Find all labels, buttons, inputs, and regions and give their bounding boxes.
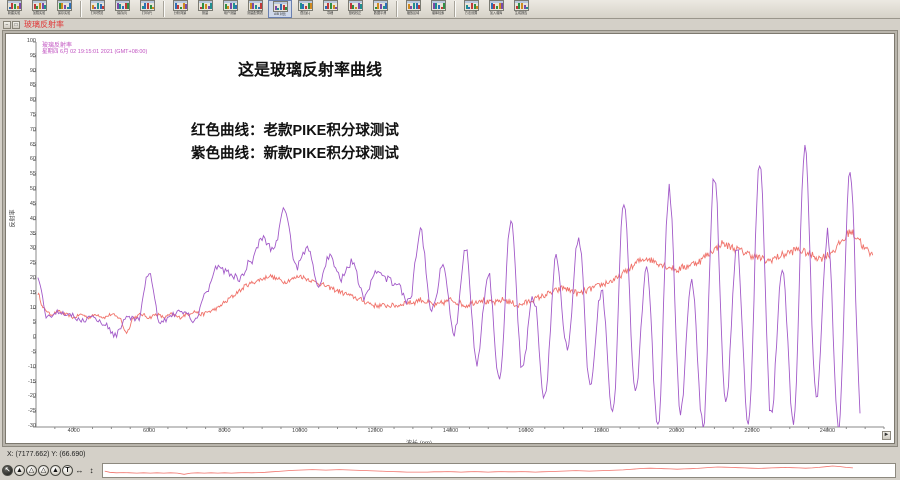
x-tick-label: 4000 bbox=[54, 428, 94, 434]
status-bar: X: (7177.662) Y: (66.690) bbox=[0, 448, 900, 460]
x-tick-label: 22000 bbox=[732, 428, 772, 434]
printer-icon bbox=[90, 0, 105, 11]
y-tick-label: 10 bbox=[16, 305, 36, 311]
document-minimize-button[interactable]: − bbox=[3, 21, 11, 29]
peak-c-mode-button[interactable]: ▲ bbox=[50, 465, 61, 476]
y-tick-label: 85 bbox=[16, 82, 36, 88]
toolbar-button-label: A/B 对比 bbox=[274, 12, 286, 16]
y-tick-label: 80 bbox=[16, 97, 36, 103]
y-tick-label: -10 bbox=[16, 364, 36, 370]
toolbar-separator bbox=[454, 1, 456, 17]
bottom-toolbar: ↖▲△△▲T↔↕ bbox=[0, 460, 900, 480]
chart-canvas[interactable]: 玻璃反射率 星期四 6月 02 19:15:01 2021 (GMT+08:00… bbox=[5, 33, 895, 444]
toolbar-baseline-button[interactable]: 基线校正 bbox=[343, 0, 367, 18]
y-tick-label: 90 bbox=[16, 68, 36, 74]
y-tick-label: -15 bbox=[16, 379, 36, 385]
toolbar-print-button[interactable]: 打印(P) bbox=[135, 0, 159, 18]
overview-svg bbox=[103, 464, 863, 477]
floppy-icon bbox=[115, 0, 130, 11]
toolbar-button-label: 分析背景 bbox=[174, 11, 187, 15]
toolbar-button-label: 叠加(L) bbox=[300, 11, 310, 15]
y-tick-label: 55 bbox=[16, 171, 36, 177]
expand-x-button[interactable]: ↔ bbox=[74, 465, 85, 476]
peak-up-mode-button[interactable]: ▲ bbox=[14, 465, 25, 476]
y-tick-label: 40 bbox=[16, 216, 36, 222]
toolbar-user-defined-button[interactable]: 用户测量 bbox=[218, 0, 242, 18]
toolbar-method-setup-button[interactable]: 方法设置 bbox=[459, 0, 483, 18]
y-tick-label: 35 bbox=[16, 231, 36, 237]
toolbar-save-file-button[interactable]: 保存(S) bbox=[110, 0, 134, 18]
library-search-icon bbox=[431, 0, 446, 11]
toolbar-button-label: 新建实验 bbox=[8, 11, 21, 15]
x-tick-label: 6000 bbox=[129, 428, 169, 434]
toolbar-save-experiment-button[interactable]: 保存实验 bbox=[52, 0, 76, 18]
document-titlebar: − □ 玻璃反射率 bbox=[0, 19, 900, 30]
y-axis-ticks: 1009590858075706560555045403530252015105… bbox=[10, 34, 36, 443]
toolbar-config-measure-button[interactable]: 测量配置表 bbox=[243, 0, 267, 18]
y-tick-label: 45 bbox=[16, 201, 36, 207]
y-tick-label: 70 bbox=[16, 127, 36, 133]
toolbar-button-label: 保存实验 bbox=[58, 11, 71, 15]
document-restore-button[interactable]: □ bbox=[12, 21, 20, 29]
cursor-mode-button[interactable]: ↖ bbox=[2, 465, 13, 476]
toolbar-button-label: 寻峰 bbox=[327, 11, 333, 15]
stack-icon bbox=[298, 0, 313, 11]
window-scroll-button[interactable]: ► bbox=[882, 431, 891, 440]
y-tick-label: 65 bbox=[16, 142, 36, 148]
x-tick-label: 16000 bbox=[506, 428, 546, 434]
x-tick-label: 18000 bbox=[581, 428, 621, 434]
toolbar-button-label: 谱库检索 bbox=[432, 11, 445, 15]
y-tick-label: 60 bbox=[16, 156, 36, 162]
peak-a-mode-button[interactable]: △ bbox=[26, 465, 37, 476]
x-tick-label: 8000 bbox=[204, 428, 244, 434]
toolbar-button-label: 打印(P) bbox=[142, 11, 152, 15]
x-tick-label: 24000 bbox=[807, 428, 847, 434]
peak-icon bbox=[323, 0, 338, 11]
toolbar-open-experiment-button[interactable]: 加载实验 bbox=[27, 0, 51, 18]
doc-save-icon bbox=[57, 0, 72, 11]
toolbar-button-label: 缩放区域 bbox=[407, 11, 420, 15]
y-tick-label: -25 bbox=[16, 408, 36, 414]
toolbar-background-scan-button[interactable]: 分析背景 bbox=[168, 0, 192, 18]
chart-window: 玻璃反射率 星期四 6月 02 19:15:01 2021 (GMT+08:00… bbox=[2, 30, 898, 447]
toolbar-button-label: 打印预览 bbox=[91, 11, 104, 15]
toolbar-peak-pick-button[interactable]: 寻峰 bbox=[318, 0, 342, 18]
toolbar-separator bbox=[163, 1, 165, 17]
toolbar-zoom-region-button[interactable]: 缩放区域 bbox=[401, 0, 425, 18]
method-icon bbox=[464, 0, 479, 11]
toolbar-button-label: 测量 bbox=[202, 11, 208, 15]
y-tick-label: 15 bbox=[16, 290, 36, 296]
toolbar-button-label: 保存(S) bbox=[117, 11, 127, 15]
report-icon bbox=[514, 0, 529, 11]
baseline-icon bbox=[348, 0, 363, 11]
chart-scan-icon bbox=[198, 0, 213, 11]
y-tick-label: 25 bbox=[16, 260, 36, 266]
toolbar-sample-scan-button[interactable]: 测量 bbox=[193, 0, 217, 18]
document-title: 玻璃反射率 bbox=[24, 19, 64, 30]
x-tick-label: 10000 bbox=[280, 428, 320, 434]
toolbar-button-label: 方法设置 bbox=[465, 11, 478, 15]
print-icon bbox=[140, 0, 155, 11]
toolbar-add-to-library-button[interactable]: 加入谱库 bbox=[484, 0, 508, 18]
x-tick-label: 12000 bbox=[355, 428, 395, 434]
chart-cfg-icon bbox=[248, 0, 263, 11]
x-tick-label: 14000 bbox=[431, 428, 471, 434]
doc-open-icon bbox=[32, 0, 47, 11]
toolbar-button-label: 加入谱库 bbox=[490, 11, 503, 15]
toolbar-button-label: 测量配置表 bbox=[247, 11, 263, 15]
peak-b-mode-button[interactable]: △ bbox=[38, 465, 49, 476]
toolbar-separator bbox=[80, 1, 82, 17]
legend-entry-purple: 紫色曲线：新款PIKE积分球测试 bbox=[191, 142, 399, 163]
y-tick-label: 100 bbox=[16, 38, 36, 44]
y-tick-label: -5 bbox=[16, 349, 36, 355]
doc-green-icon bbox=[7, 0, 22, 11]
y-tick-label: 20 bbox=[16, 275, 36, 281]
spectrum-plot-svg bbox=[6, 34, 894, 444]
y-tick-label: -20 bbox=[16, 393, 36, 399]
toolbar-ab-mode-button[interactable]: A/B 对比 bbox=[268, 0, 292, 18]
spectrum-overview-strip[interactable] bbox=[102, 463, 896, 478]
toolbar-new-experiment-button[interactable]: 新建实验 bbox=[2, 0, 26, 18]
y-tick-label: 0 bbox=[16, 334, 36, 340]
plot-area[interactable]: 玻璃反射率 星期四 6月 02 19:15:01 2021 (GMT+08:00… bbox=[6, 34, 894, 443]
y-tick-label: 30 bbox=[16, 245, 36, 251]
toolbar-smooth-button[interactable]: 数据平滑 bbox=[368, 0, 392, 18]
x-axis-label: 波长 (nm) bbox=[406, 438, 432, 444]
toolbar-stack-view-button[interactable]: 叠加(L) bbox=[293, 0, 317, 18]
toolbar-search-library-button[interactable]: 谱库检索 bbox=[426, 0, 450, 18]
toolbar-button-label: 生成报告 bbox=[515, 11, 528, 15]
toolbar-report-button[interactable]: 生成报告 bbox=[509, 0, 533, 18]
chart-user-icon bbox=[223, 0, 238, 11]
smooth-icon bbox=[373, 0, 388, 11]
y-tick-label: 75 bbox=[16, 112, 36, 118]
legend-entry-red: 红色曲线：老款PIKE积分球测试 bbox=[191, 119, 399, 140]
toolbar-button-label: 加载实验 bbox=[33, 11, 46, 15]
x-axis-ticks: 4000600080001000012000140001600018000200… bbox=[6, 428, 894, 438]
magnifier-icon bbox=[406, 0, 421, 11]
y-tick-label: 50 bbox=[16, 186, 36, 192]
expand-y-button[interactable]: ↕ bbox=[86, 465, 97, 476]
toolbar-button-label: 基线校正 bbox=[349, 11, 362, 15]
library-add-icon bbox=[489, 0, 504, 11]
toolbar-print-preview-button[interactable]: 打印预览 bbox=[85, 0, 109, 18]
chart-title: 这是玻璃反射率曲线 bbox=[238, 56, 382, 80]
toolbar-button-label: 用户测量 bbox=[224, 11, 237, 15]
main-toolbar: 新建实验加载实验保存实验打印预览保存(S)打印(P)分析背景测量用户测量测量配置… bbox=[0, 0, 900, 19]
chart-blue-icon bbox=[173, 0, 188, 11]
cursor-coordinates: X: (7177.662) Y: (66.690) bbox=[3, 451, 89, 458]
y-tick-label: 95 bbox=[16, 53, 36, 59]
ab-icon bbox=[273, 1, 288, 12]
toolbar-separator bbox=[396, 1, 398, 17]
text-mode-button[interactable]: T bbox=[62, 465, 73, 476]
mode-button-group: ↖▲△△▲T↔↕ bbox=[2, 465, 98, 476]
y-axis-label: 反射率 bbox=[8, 199, 17, 239]
x-tick-label: 20000 bbox=[657, 428, 697, 434]
y-tick-label: 5 bbox=[16, 319, 36, 325]
toolbar-button-label: 数据平滑 bbox=[374, 11, 387, 15]
